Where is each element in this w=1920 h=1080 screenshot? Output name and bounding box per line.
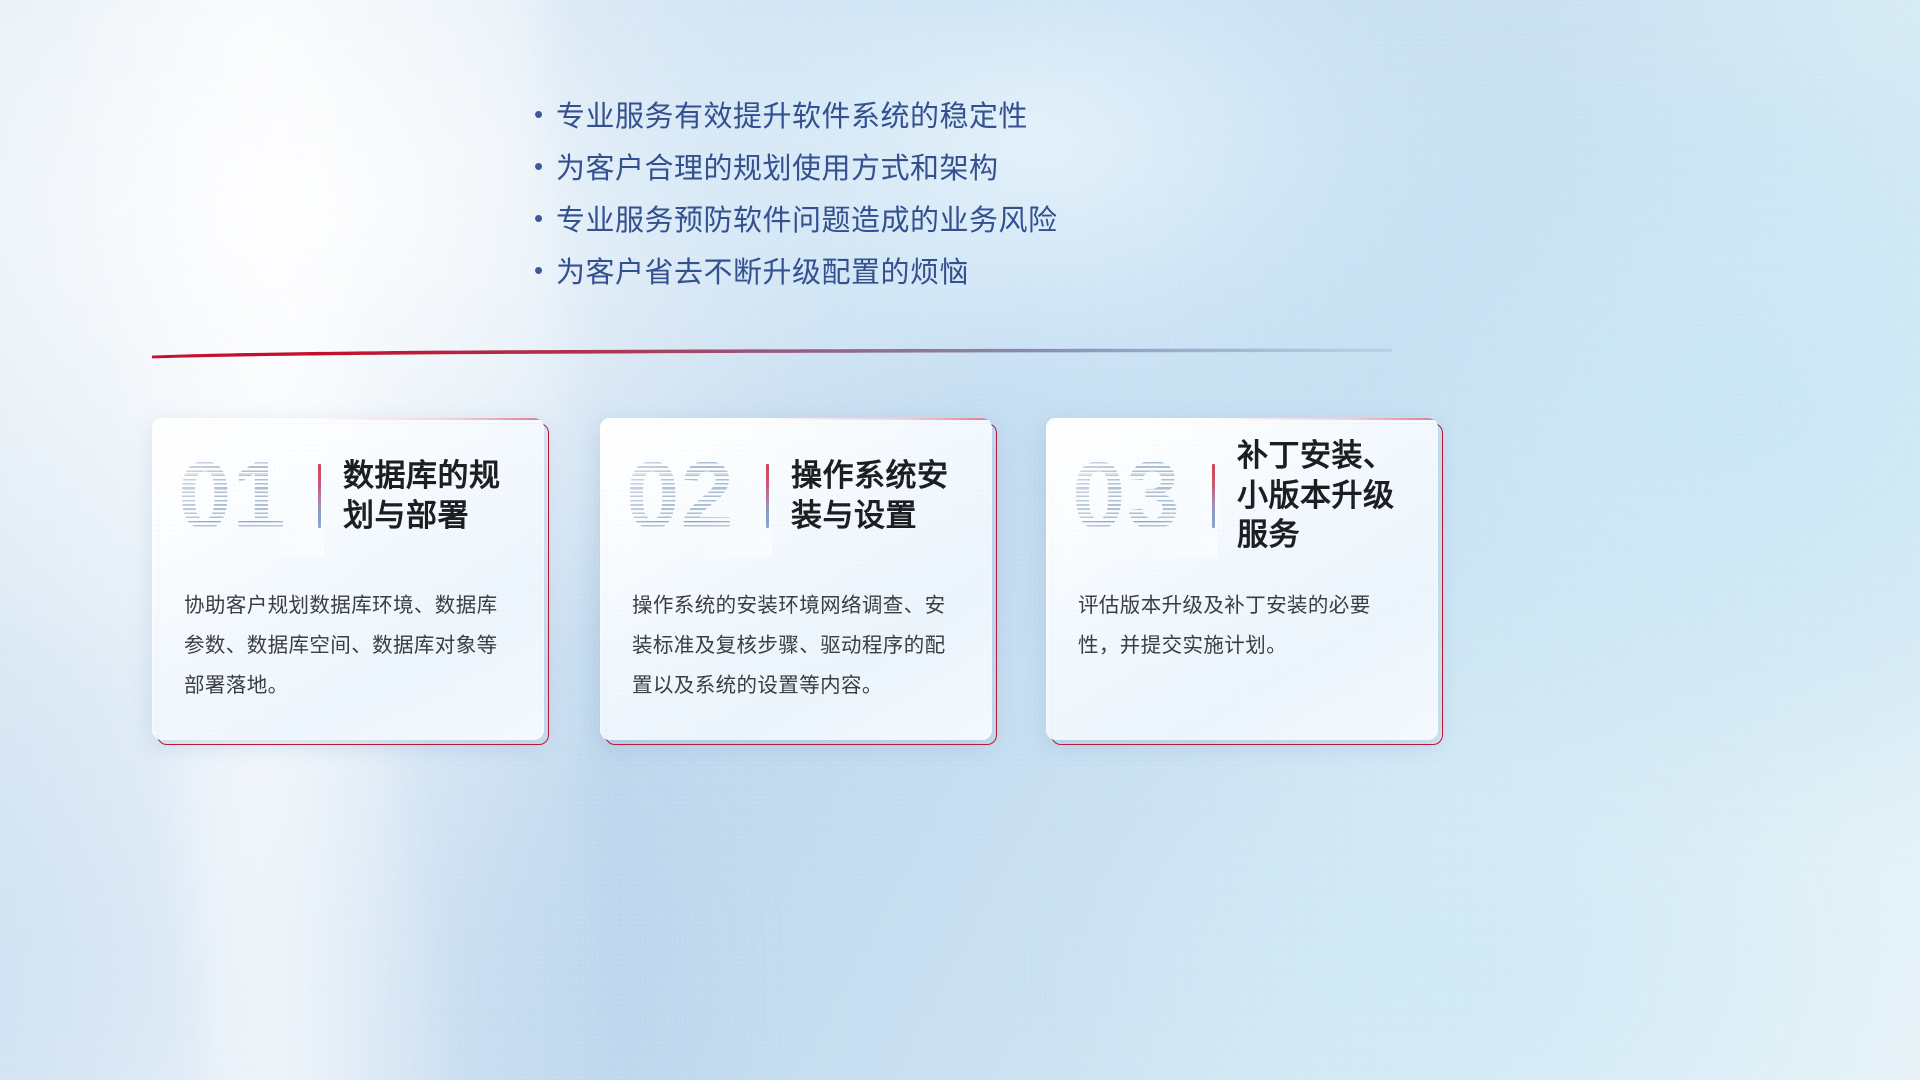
card-title: 补丁安装、小版本升级服务: [1237, 436, 1438, 555]
card-title-divider-bar: [766, 464, 769, 528]
card-number-badge: 02 02: [626, 441, 766, 551]
card-title-divider-bar: [318, 464, 321, 528]
bullet-item: • 为客户合理的规划使用方式和架构: [530, 140, 1290, 192]
benefits-bullet-list: • 专业服务有效提升软件系统的稳定性 • 为客户合理的规划使用方式和架构 • 专…: [530, 88, 1290, 296]
card-header: 02 02 操作系统安装与设置: [600, 418, 992, 573]
section-divider: [152, 348, 1392, 362]
service-card[interactable]: 03 03 补丁安装、小版本升级服务 评估版本升级及补丁安装的必要性，并提交实施…: [1046, 418, 1438, 740]
card-header: 01 01 数据库的规划与部署: [152, 418, 544, 573]
card-description: 操作系统的安装环境网络调查、安装标准及复核步骤、驱动程序的配置以及系统的设置等内…: [632, 586, 964, 706]
service-card[interactable]: 01 01 数据库的规划与部署 协助客户规划数据库环境、数据库参数、数据库空间、…: [152, 418, 544, 740]
service-card[interactable]: 02 02 操作系统安装与设置 操作系统的安装环境网络调查、安装标准及复核步骤、…: [600, 418, 992, 740]
bullet-dot-icon: •: [530, 257, 556, 283]
bullet-label: 为客户合理的规划使用方式和架构: [556, 145, 999, 187]
bullet-item: • 专业服务预防软件问题造成的业务风险: [530, 192, 1290, 244]
card-title: 操作系统安装与设置: [791, 456, 992, 535]
divider-shape-icon: [152, 348, 1392, 362]
bullet-item: • 为客户省去不断升级配置的烦恼: [530, 244, 1290, 296]
bullet-dot-icon: •: [530, 153, 556, 179]
card-number-badge: 01 01: [178, 441, 318, 551]
bullet-dot-icon: •: [530, 205, 556, 231]
bullet-label: 为客户省去不断升级配置的烦恼: [556, 249, 969, 291]
card-number-striped-red-overlay: 02: [626, 441, 735, 551]
card-number-badge: 03 03: [1072, 441, 1212, 551]
card-number-striped-red-overlay: 01: [178, 441, 287, 551]
card-surface: 03 03 补丁安装、小版本升级服务 评估版本升级及补丁安装的必要性，并提交实施…: [1046, 418, 1438, 740]
card-description: 协助客户规划数据库环境、数据库参数、数据库空间、数据库对象等部署落地。: [184, 586, 516, 706]
card-title-divider-bar: [1212, 464, 1215, 528]
card-description: 评估版本升级及补丁安装的必要性，并提交实施计划。: [1078, 586, 1410, 666]
card-surface: 02 02 操作系统安装与设置 操作系统的安装环境网络调查、安装标准及复核步骤、…: [600, 418, 992, 740]
card-surface: 01 01 数据库的规划与部署 协助客户规划数据库环境、数据库参数、数据库空间、…: [152, 418, 544, 740]
card-title: 数据库的规划与部署: [343, 456, 544, 535]
bullet-dot-icon: •: [530, 101, 556, 127]
card-number-striped-red-overlay: 03: [1072, 441, 1181, 551]
card-header: 03 03 补丁安装、小版本升级服务: [1046, 418, 1438, 573]
service-card-list: 01 01 数据库的规划与部署 协助客户规划数据库环境、数据库参数、数据库空间、…: [0, 418, 1920, 748]
bullet-label: 专业服务有效提升软件系统的稳定性: [556, 93, 1028, 135]
bullet-label: 专业服务预防软件问题造成的业务风险: [556, 197, 1058, 239]
bullet-item: • 专业服务有效提升软件系统的稳定性: [530, 88, 1290, 140]
